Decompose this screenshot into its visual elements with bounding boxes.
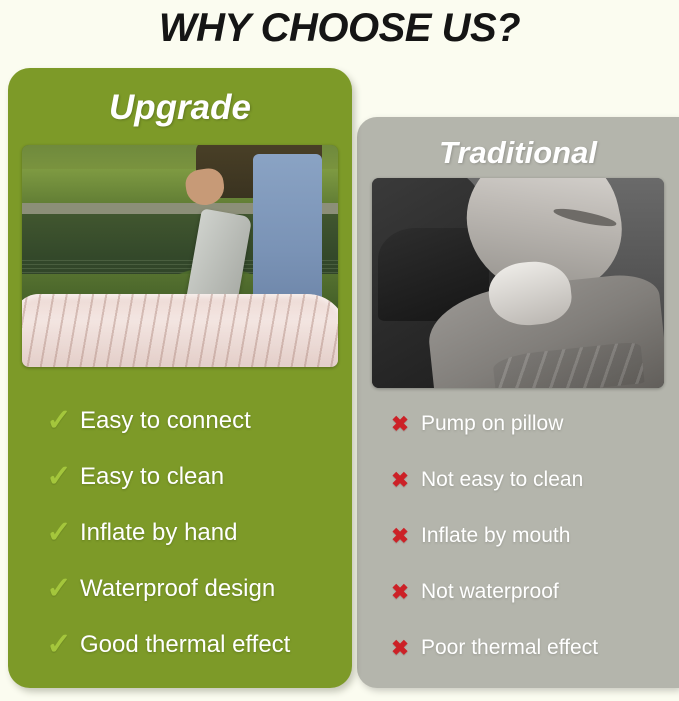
feature-row: ✓ Easy to clean bbox=[42, 449, 342, 505]
product-photo-traditional bbox=[372, 178, 664, 388]
feature-label: Good thermal effect bbox=[80, 631, 290, 659]
feature-label: Inflate by mouth bbox=[421, 524, 570, 548]
comparison-card-upgrade: Upgrade ✓ Easy to connect ✓ Easy to clea… bbox=[8, 68, 352, 688]
feature-list-upgrade: ✓ Easy to connect ✓ Easy to clean ✓ Infl… bbox=[42, 393, 342, 673]
feature-row: ✖ Poor thermal effect bbox=[385, 620, 671, 676]
card-clip: Traditional ✖ Pump on pillow ✖ Not easy … bbox=[357, 117, 679, 688]
feature-label: Easy to connect bbox=[80, 407, 251, 435]
card-heading-upgrade: Upgrade bbox=[8, 88, 352, 128]
feature-row: ✓ Waterproof design bbox=[42, 561, 342, 617]
cross-icon: ✖ bbox=[385, 414, 415, 435]
feature-row: ✖ Inflate by mouth bbox=[385, 508, 671, 564]
feature-list-traditional: ✖ Pump on pillow ✖ Not easy to clean ✖ I… bbox=[385, 396, 671, 676]
feature-label: Pump on pillow bbox=[421, 412, 563, 436]
check-icon: ✓ bbox=[42, 462, 76, 492]
cross-icon: ✖ bbox=[385, 638, 415, 659]
feature-row: ✖ Not easy to clean bbox=[385, 452, 671, 508]
feature-row: ✓ Easy to connect bbox=[42, 393, 342, 449]
feature-row: ✖ Not waterproof bbox=[385, 564, 671, 620]
cross-icon: ✖ bbox=[385, 526, 415, 547]
feature-label: Inflate by hand bbox=[80, 519, 237, 547]
check-icon: ✓ bbox=[42, 406, 76, 436]
card-heading-traditional: Traditional bbox=[357, 135, 679, 171]
product-photo-upgrade bbox=[22, 145, 338, 367]
feature-label: Not easy to clean bbox=[421, 468, 583, 492]
comparison-card-traditional: Traditional ✖ Pump on pillow ✖ Not easy … bbox=[357, 117, 679, 688]
photo-sleeping-pad bbox=[22, 294, 338, 367]
check-icon: ✓ bbox=[42, 518, 76, 548]
photo-bag-folds bbox=[492, 341, 645, 388]
feature-label: Easy to clean bbox=[80, 463, 224, 491]
feature-label: Waterproof design bbox=[80, 575, 275, 603]
check-icon: ✓ bbox=[42, 630, 76, 660]
feature-row: ✓ Inflate by hand bbox=[42, 505, 342, 561]
feature-label: Not waterproof bbox=[421, 580, 559, 604]
cross-icon: ✖ bbox=[385, 582, 415, 603]
cross-icon: ✖ bbox=[385, 470, 415, 491]
photo-person-jeans bbox=[253, 154, 323, 314]
feature-row: ✓ Good thermal effect bbox=[42, 617, 342, 673]
check-icon: ✓ bbox=[42, 574, 76, 604]
feature-row: ✖ Pump on pillow bbox=[385, 396, 671, 452]
feature-label: Poor thermal effect bbox=[421, 636, 598, 660]
photo-pad-ribs bbox=[22, 294, 338, 367]
page-title: WHY CHOOSE US? bbox=[0, 0, 679, 58]
